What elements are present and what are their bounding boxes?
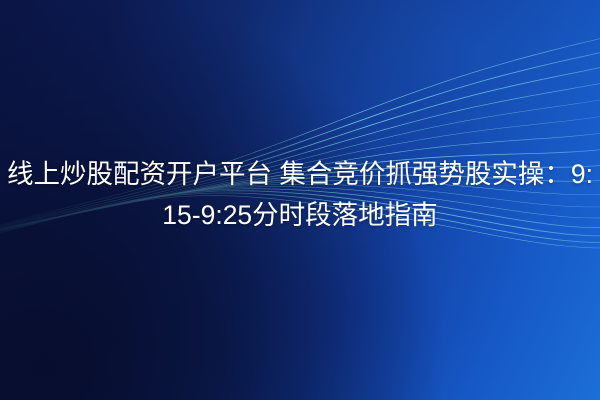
page-title: 线上炒股配资开户平台 集合竞价抓强势股实操：9:15-9:25分时段落地指南 (4, 154, 596, 236)
wireframe-wave-mesh-icon (0, 0, 600, 400)
top-glow-overlay (0, 0, 600, 400)
banner-title-container: 线上炒股配资开户平台 集合竞价抓强势股实操：9:15-9:25分时段落地指南 (0, 154, 600, 236)
banner-image: 线上炒股配资开户平台 集合竞价抓强势股实操：9:15-9:25分时段落地指南 (0, 0, 600, 400)
bottom-left-shadow-overlay (0, 0, 600, 400)
